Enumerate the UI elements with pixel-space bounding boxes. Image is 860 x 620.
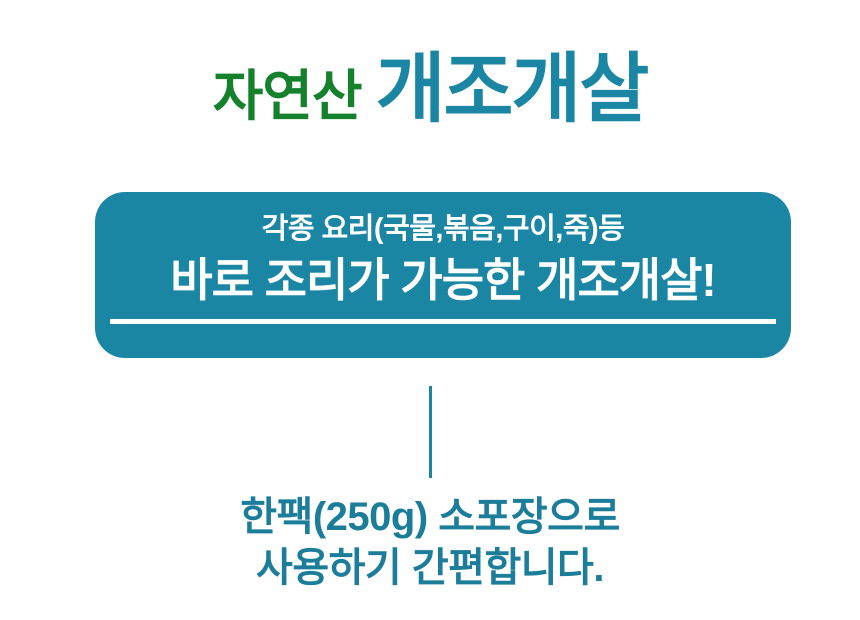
callout-underline (110, 319, 776, 324)
callout-headline: 바로 조리가 가능한 개조개살! (95, 254, 791, 307)
connector-line-icon (429, 386, 432, 478)
headline-product-name: 개조개살 (376, 47, 648, 132)
caption-block: 한팩(250g) 소포장으로 사용하기 간편합니다. (0, 492, 860, 594)
product-banner: 자연산개조개살 각종 요리(국물,볶음,구이,죽)등 바로 조리가 가능한 개조… (0, 0, 860, 620)
caption-line-1: 한팩(250g) 소포장으로 (0, 492, 860, 543)
callout-subtitle: 각종 요리(국물,볶음,구이,죽)등 (95, 214, 791, 246)
caption-line-2: 사용하기 간편합니다. (0, 543, 860, 594)
headline-prefix: 자연산 (213, 65, 362, 127)
callout-box: 각종 요리(국물,볶음,구이,죽)등 바로 조리가 가능한 개조개살! (95, 192, 791, 358)
page-title: 자연산개조개살 (0, 52, 860, 128)
